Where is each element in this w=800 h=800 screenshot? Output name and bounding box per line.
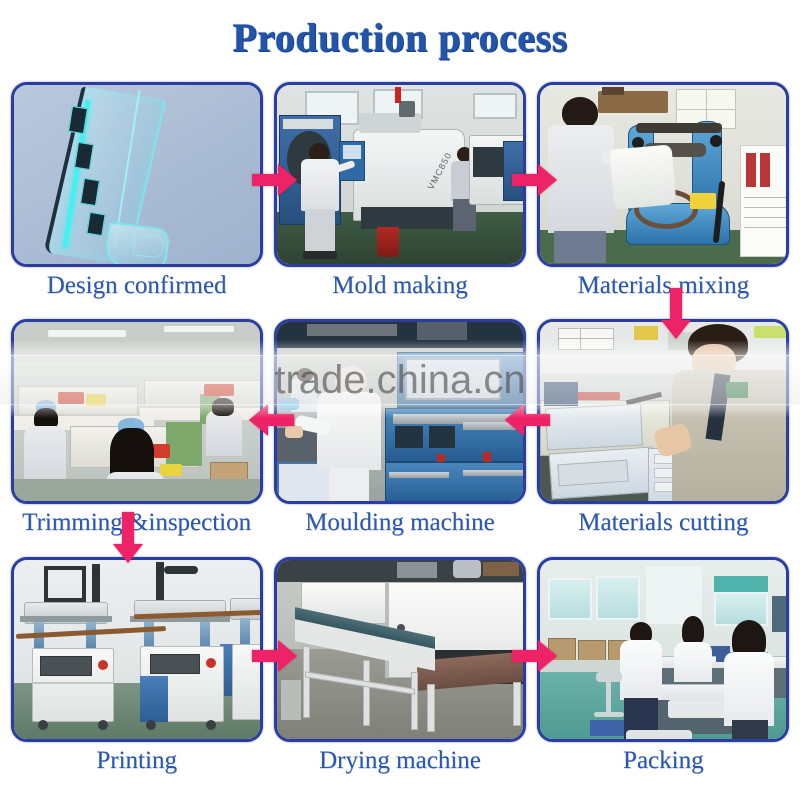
production-process-poster: Production process Design confirme — [0, 0, 800, 800]
arrow-left-step6-step5 — [504, 403, 550, 437]
step-photo-mold-making: VMC850 — [274, 82, 526, 267]
step-label-1: Design confirmed — [47, 272, 227, 300]
arrow-down-step4-step7 — [112, 512, 144, 564]
step-label-7: Printing — [96, 747, 177, 775]
scene-cnc-workshop: VMC850 — [277, 85, 523, 264]
process-step-2[interactable]: VMC850 — [271, 82, 528, 317]
process-grid: Design confirmed — [8, 82, 792, 792]
scene-trimming-benches — [14, 322, 260, 501]
step-photo-trimming-inspection — [11, 319, 263, 504]
process-step-1[interactable]: Design confirmed — [8, 82, 265, 317]
step-label-6: Materials cutting — [578, 509, 748, 537]
step-photo-materials-mixing — [537, 82, 789, 267]
process-step-7[interactable]: Printing — [8, 557, 265, 792]
step-photo-moulding-machine — [274, 319, 526, 504]
process-step-9[interactable]: Packing — [535, 557, 792, 792]
step-photo-printing — [11, 557, 263, 742]
step-photo-packing — [537, 557, 789, 742]
scene-moulding-line — [277, 322, 523, 501]
step-photo-design-confirmed — [11, 82, 263, 267]
step-label-2: Mold making — [332, 272, 467, 300]
arrow-right-step7-step8 — [252, 639, 298, 673]
arrow-right-step1-step2 — [252, 163, 298, 197]
scene-cutting-table — [540, 322, 786, 501]
scene-packing-room — [540, 560, 786, 739]
process-step-3[interactable]: Materials mixing — [535, 82, 792, 317]
process-step-6[interactable]: Materials cutting — [535, 319, 792, 554]
scene-mixing-machine — [540, 85, 786, 264]
step-label-9: Packing — [623, 747, 704, 775]
arrow-down-step3-step6 — [660, 288, 692, 340]
step-photo-drying-machine — [274, 557, 526, 742]
arrow-right-step8-step9 — [512, 639, 558, 673]
arrow-right-step2-step3 — [512, 163, 558, 197]
step-photo-materials-cutting — [537, 319, 789, 504]
scene-cad-wireframe — [14, 85, 260, 264]
process-step-8[interactable]: Drying machine — [271, 557, 528, 792]
step-label-5: Moulding machine — [305, 509, 495, 537]
step-label-8: Drying machine — [319, 747, 481, 775]
scene-conveyor-oven — [277, 560, 523, 739]
scene-screen-printers — [14, 560, 260, 739]
page-title: Production process — [0, 14, 800, 61]
process-step-5[interactable]: Moulding machine — [271, 319, 528, 554]
arrow-left-step5-step4 — [248, 403, 294, 437]
